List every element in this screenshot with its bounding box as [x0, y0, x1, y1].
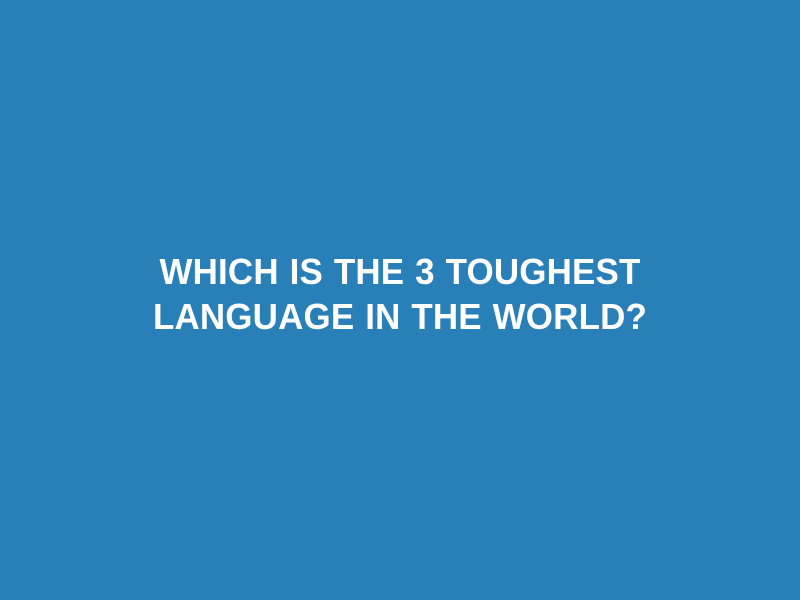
- headline-block: WHICH IS THE 3 TOUGHEST LANGUAGE IN THE …: [0, 249, 800, 339]
- page-title: WHICH IS THE 3 TOUGHEST LANGUAGE IN THE …: [65, 249, 734, 339]
- featured-image-card: WHICH IS THE 3 TOUGHEST LANGUAGE IN THE …: [0, 0, 800, 600]
